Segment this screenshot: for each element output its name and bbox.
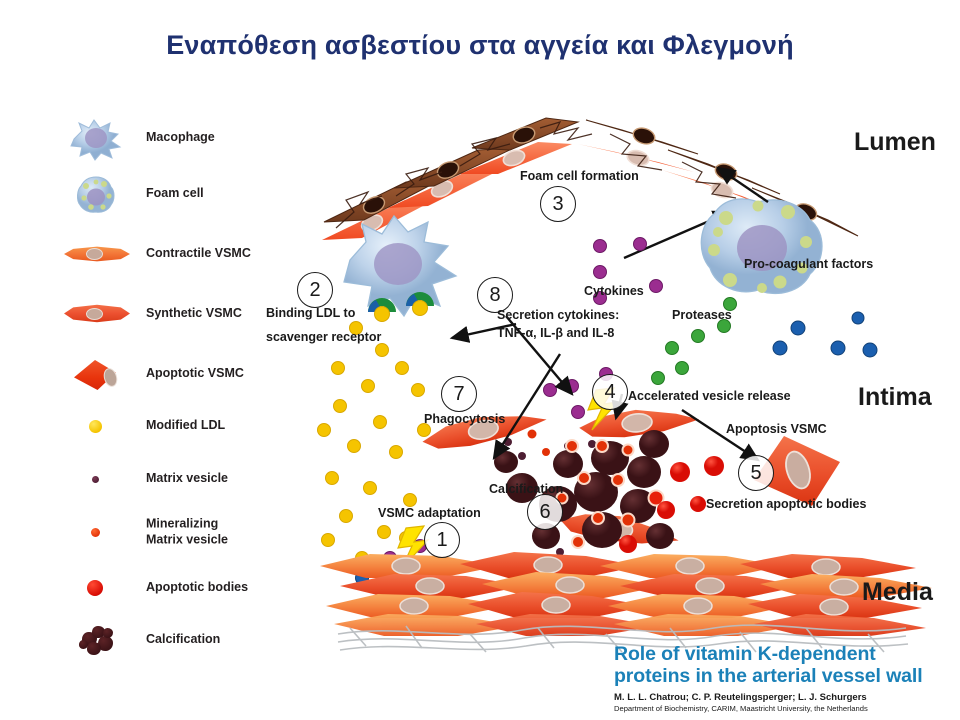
credit-title-line1: Role of vitamin K-dependent — [614, 644, 954, 666]
step-number-6: 6 — [527, 494, 563, 530]
matrix-vesicle-icon — [60, 459, 130, 499]
synthetic-vsmc-icon — [60, 294, 130, 334]
step-label-1: VSMC adaptation — [378, 505, 481, 521]
step-label-6: Calcification — [489, 481, 563, 497]
vsmc-nucleus — [86, 248, 103, 260]
vsmc-nucleus — [102, 367, 120, 389]
legend-label: Synthetic VSMC — [146, 306, 242, 322]
apoptotic-vsmc-icon — [60, 354, 130, 394]
legend-item-contractile-vsmc: Contractile VSMC — [28, 234, 308, 274]
step-number-1: 1 — [424, 522, 460, 558]
legend-item-calcification: Calcification — [28, 620, 308, 660]
macrophage-shape — [68, 117, 124, 161]
vsmc-nucleus — [86, 308, 103, 320]
layer-label-intima: Intima — [858, 383, 932, 412]
credit-block: Role of vitamin K-dependent proteins in … — [614, 644, 954, 713]
apoptosis-vsmc-label: Apoptosis VSMC — [726, 421, 827, 437]
calcification-cluster — [78, 624, 118, 658]
legend-label: Modified LDL — [146, 418, 225, 434]
legend-label: Foam cell — [146, 186, 204, 202]
legend-item-apoptotic-vsmc: Apoptotic VSMC — [28, 354, 308, 394]
step-number-4: 4 — [592, 374, 628, 410]
credit-affiliation: Department of Biochemistry, CARIM, Maast… — [614, 704, 954, 713]
legend-item-matrix-vesicle: Matrix vesicle — [28, 459, 308, 499]
layer-label-media: Media — [862, 578, 933, 607]
ldl-dot — [89, 420, 102, 433]
matrix-vesicle-dot — [92, 476, 99, 483]
legend-label: Mineralizing Matrix vesicle — [146, 516, 228, 547]
step-label-2: Binding LDL to scavenger receptor — [266, 302, 381, 350]
step-label-3: Foam cell formation — [520, 168, 639, 184]
slide-canvas: Εναπόθεση ασβεστίου στα αγγεία και Φλεγμ… — [0, 0, 960, 720]
step-number-3: 3 — [540, 186, 576, 222]
slide-title: Εναπόθεση ασβεστίου στα αγγεία και Φλεγμ… — [0, 30, 960, 61]
mineralizing-vesicle-dot — [91, 528, 100, 537]
legend-item-apoptotic-bodies: Apoptotic bodies — [28, 568, 308, 608]
legend-item-foam-cell: Foam cell — [28, 174, 308, 214]
legend-label: Matrix vesicle — [146, 471, 228, 487]
step-label-7: Phagocytosis — [424, 411, 505, 427]
legend-label: Calcification — [146, 632, 220, 648]
macrophage-icon — [60, 118, 130, 158]
calcification-icon — [60, 620, 130, 660]
legend-label: Apoptotic VSMC — [146, 366, 244, 382]
credit-authors: M. L. L. Chatrou; C. P. Reutelingsperger… — [614, 692, 954, 703]
legend-label: Contractile VSMC — [146, 246, 251, 262]
procoagulant-particles — [773, 312, 877, 357]
layer-label-lumen: Lumen — [854, 128, 936, 157]
media-layer — [320, 552, 932, 652]
foam-cell-icon — [60, 174, 130, 214]
legend-label: Apoptotic bodies — [146, 580, 248, 596]
apoptotic-bodies-icon — [60, 568, 130, 608]
mineralizing-vesicle-icon — [60, 512, 130, 552]
modified-ldl-icon — [60, 406, 130, 446]
step-number-7: 7 — [441, 376, 477, 412]
proteases-label: Proteases — [672, 307, 732, 323]
contractile-vsmc-icon — [60, 234, 130, 274]
procoagulant-factors-label: Pro-coagulant factors — [744, 256, 873, 272]
foam-cell-shape — [76, 176, 116, 214]
step-label-5: Secretion apoptotic bodies — [706, 496, 866, 512]
legend-label: Macophage — [146, 130, 215, 146]
step-label-8: Secretion cytokines: TNF-α, IL-β and IL-… — [497, 306, 619, 342]
step-number-5: 5 — [738, 455, 774, 491]
arrow-cytokine-to-calcification — [494, 354, 560, 458]
credit-title-line2: proteins in the arterial vessel wall — [614, 666, 954, 688]
apoptotic-body-dot — [87, 580, 103, 596]
legend-item-mineralizing-vesicle: Mineralizing Matrix vesicle — [28, 512, 308, 552]
step-label-4: Accelerated vesicle release — [628, 388, 791, 404]
foam-cell — [701, 199, 822, 294]
legend-item-modified-ldl: Modified LDL — [28, 406, 308, 446]
legend-item-macrophage: Macophage — [28, 118, 308, 158]
cytokines-label: Cytokines — [584, 283, 644, 299]
